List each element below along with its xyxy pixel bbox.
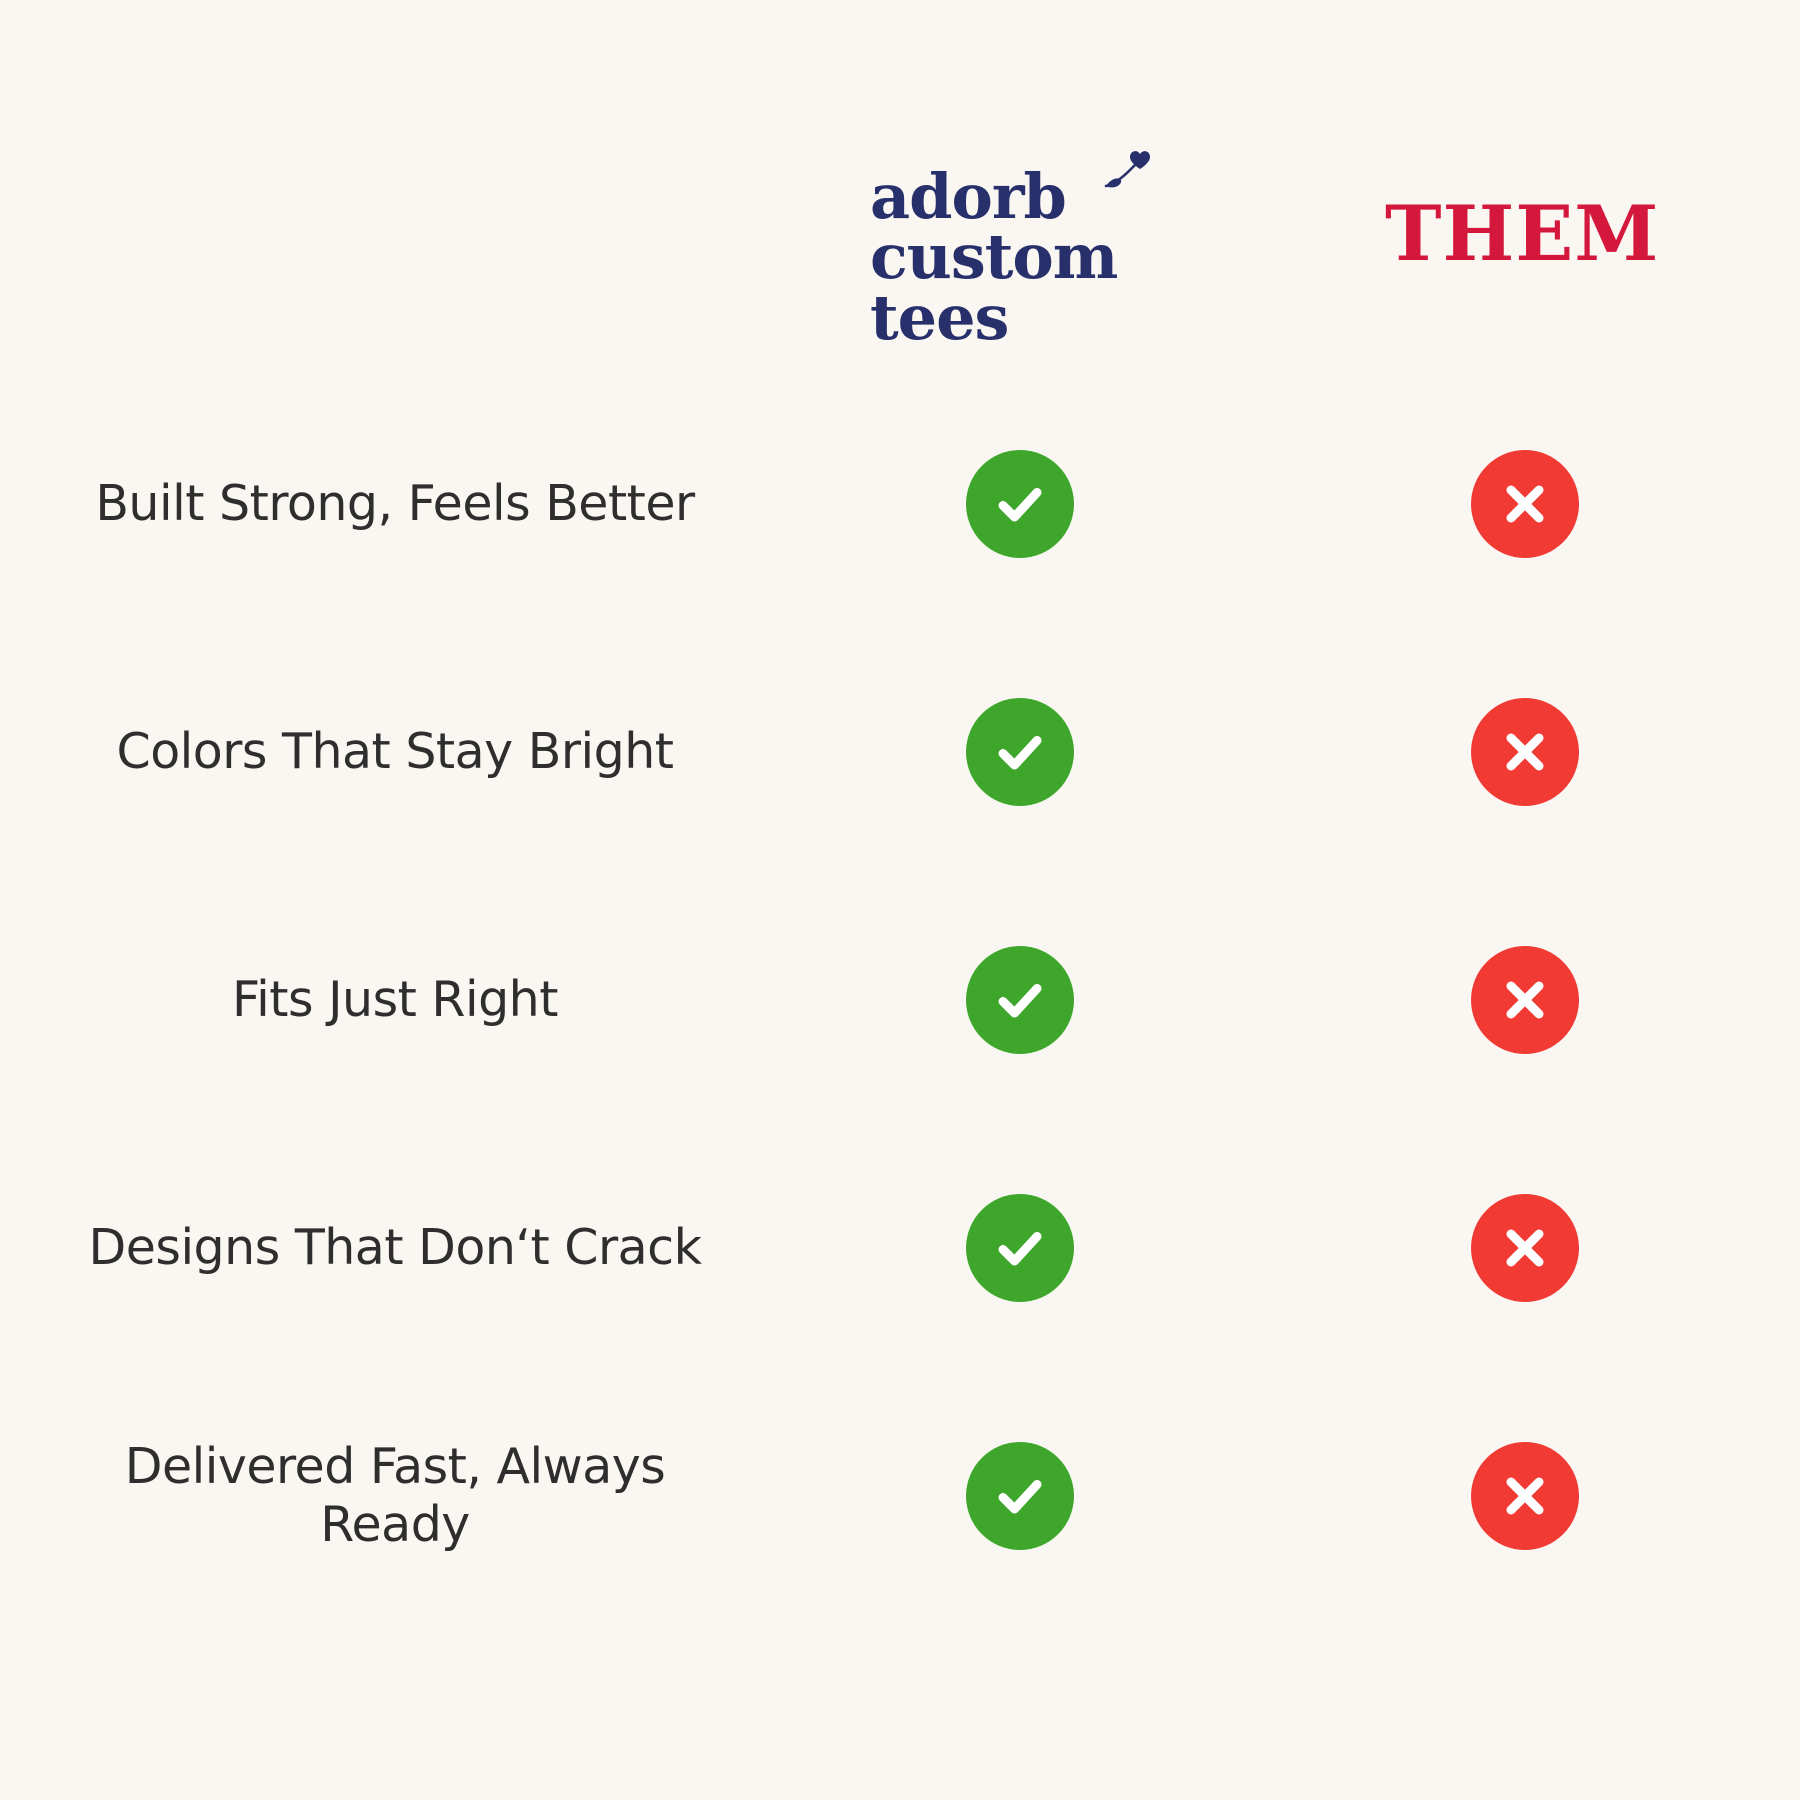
brand-cell: [790, 450, 1250, 558]
heart-icon: [1092, 146, 1152, 196]
check-circle-icon: [966, 1194, 1074, 1302]
feature-label: Colors That Stay Bright: [116, 723, 673, 781]
feature-cell: Colors That Stay Bright: [0, 723, 790, 781]
table-row: Fits Just Right: [0, 876, 1800, 1124]
comparison-header: adorb custom tees THEM: [0, 0, 1800, 380]
competitor-heading: THEM: [1385, 196, 1705, 272]
comparison-board: adorb custom tees THEM Built Strong, Fee…: [0, 0, 1800, 1800]
brand-cell: [790, 698, 1250, 806]
brand-cell: [790, 1194, 1250, 1302]
them-cell: [1250, 1194, 1800, 1302]
check-circle-icon: [966, 946, 1074, 1054]
them-cell: [1250, 698, 1800, 806]
competitor-label: THEM: [1385, 196, 1705, 272]
feature-cell: Fits Just Right: [0, 971, 790, 1029]
table-row: Delivered Fast, Always Ready: [0, 1372, 1800, 1620]
brand-logo-line-3: tees: [870, 289, 1170, 347]
cross-circle-icon: [1471, 946, 1579, 1054]
brand-cell: [790, 1442, 1250, 1550]
cross-circle-icon: [1471, 1442, 1579, 1550]
check-circle-icon: [966, 698, 1074, 806]
cross-circle-icon: [1471, 698, 1579, 806]
them-cell: [1250, 450, 1800, 558]
feature-cell: Designs That Don‘t Crack: [0, 1219, 790, 1277]
feature-label: Designs That Don‘t Crack: [89, 1219, 702, 1277]
feature-label: Fits Just Right: [232, 971, 558, 1029]
check-circle-icon: [966, 1442, 1074, 1550]
feature-label: Delivered Fast, Always Ready: [75, 1438, 715, 1554]
brand-logo-line-2: custom: [870, 228, 1170, 286]
check-circle-icon: [966, 450, 1074, 558]
feature-cell: Built Strong, Feels Better: [0, 475, 790, 533]
them-cell: [1250, 946, 1800, 1054]
feature-cell: Delivered Fast, Always Ready: [0, 1438, 790, 1554]
cross-circle-icon: [1471, 1194, 1579, 1302]
table-row: Colors That Stay Bright: [0, 628, 1800, 876]
them-cell: [1250, 1442, 1800, 1550]
brand-logo-line-1: adorb: [870, 168, 1170, 226]
brand-logo: adorb custom tees: [870, 168, 1170, 348]
feature-label: Built Strong, Feels Better: [95, 475, 694, 533]
brand-cell: [790, 946, 1250, 1054]
table-row: Built Strong, Feels Better: [0, 380, 1800, 628]
comparison-rows: Built Strong, Feels Better: [0, 380, 1800, 1800]
cross-circle-icon: [1471, 450, 1579, 558]
brand-logo-text-adorb: adorb: [870, 160, 1066, 233]
table-row: Designs That Don‘t Crack: [0, 1124, 1800, 1372]
